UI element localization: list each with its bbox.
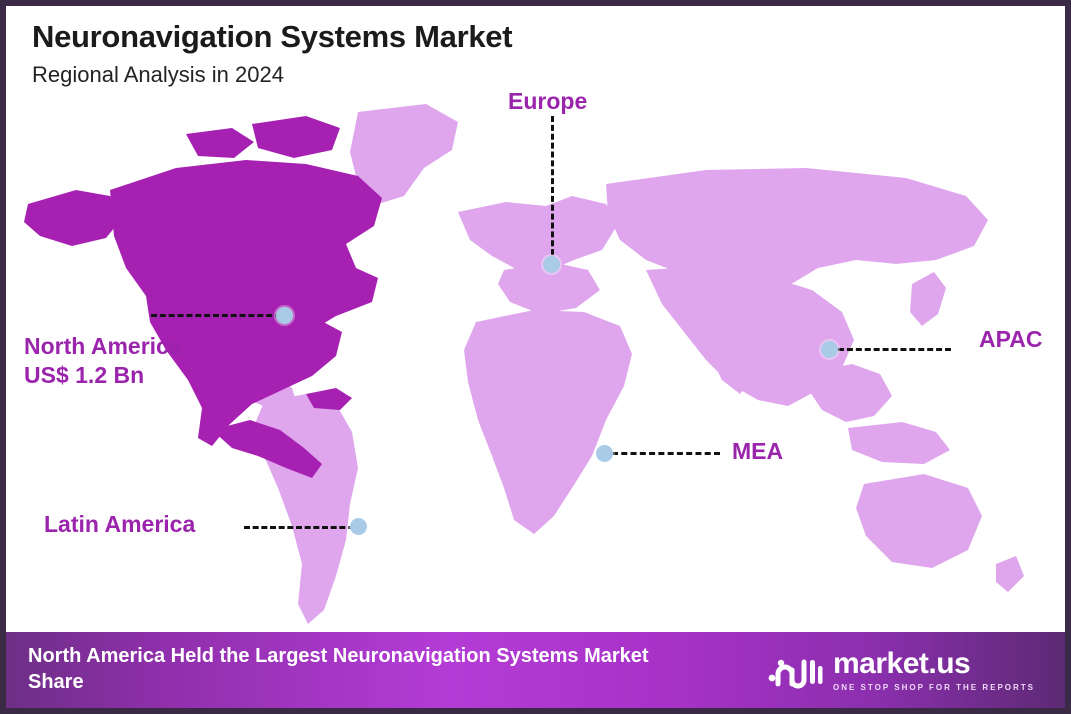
footer-banner: North America Held the Largest Neuronavi… [6, 632, 1065, 708]
market-us-logo-mark [767, 650, 823, 690]
page-subtitle: Regional Analysis in 2024 [32, 63, 512, 87]
leader-line-europe [551, 116, 554, 264]
region-label-latin-america: Latin America [44, 511, 195, 537]
region-label-north-america-name: North America [24, 333, 182, 359]
map-marker-europe[interactable] [543, 256, 560, 273]
leader-line-latin-america [244, 526, 354, 529]
map-marker-north-america[interactable] [276, 307, 293, 324]
region-label-europe: Europe [508, 88, 587, 114]
leader-line-mea [612, 452, 720, 455]
map-marker-latin-america[interactable] [350, 518, 367, 535]
footer-caption: North America Held the Largest Neuronavi… [28, 644, 688, 695]
logo-tagline: ONE STOP SHOP FOR THE REPORTS [833, 683, 1035, 692]
header: Neuronavigation Systems Market Regional … [32, 20, 512, 87]
page-title: Neuronavigation Systems Market [32, 20, 512, 54]
leader-line-apac [838, 348, 951, 351]
map-marker-mea[interactable] [596, 445, 613, 462]
map-marker-apac[interactable] [821, 341, 838, 358]
region-label-north-america: North America US$ 1.2 Bn [24, 333, 182, 389]
region-label-mea: MEA [732, 438, 783, 464]
infographic-root: Neuronavigation Systems Market Regional … [0, 0, 1071, 714]
leader-line-north-america [151, 314, 281, 317]
region-value-north-america: US$ 1.2 Bn [24, 362, 182, 388]
logo-text-block: market.us ONE STOP SHOP FOR THE REPORTS [833, 649, 1035, 692]
logo-name: market.us [833, 649, 970, 679]
region-label-apac: APAC [979, 326, 1042, 352]
brand-logo[interactable]: market.us ONE STOP SHOP FOR THE REPORTS [767, 649, 1035, 692]
